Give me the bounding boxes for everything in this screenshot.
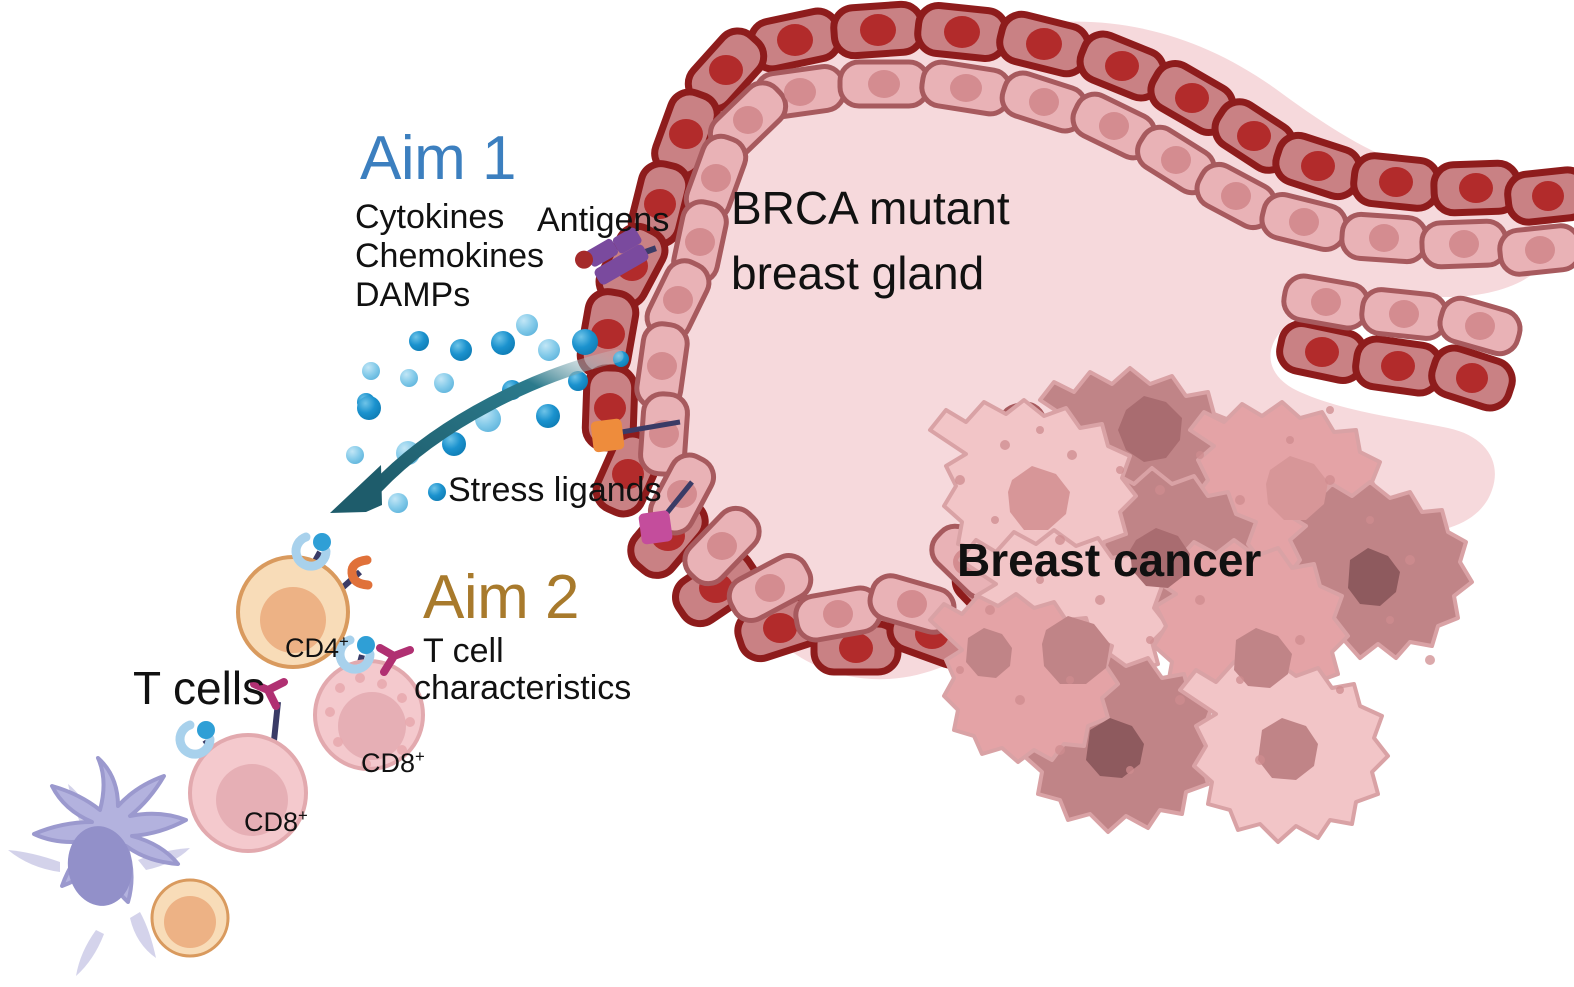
cytokine-dot	[400, 369, 418, 387]
cytokine-dot	[346, 446, 364, 464]
aim1-line-chemokines: Chemokines	[355, 238, 544, 274]
cytokine-dot	[572, 329, 598, 355]
cytokine-dot	[428, 483, 446, 501]
aim1-line-cytokines: Cytokines	[355, 199, 504, 235]
cd4-cell-label: CD4+	[255, 604, 349, 691]
cytokine-dot	[536, 404, 560, 428]
aim1-title: Aim 1	[360, 126, 516, 192]
cytokine-dot	[409, 331, 429, 351]
cytokine-dot	[388, 493, 408, 513]
cytokine-dot	[516, 314, 538, 336]
aim2-line-characteristics: characteristics	[414, 670, 631, 706]
cd8a-label-sup: +	[298, 806, 308, 825]
aim2-title: Aim 2	[423, 565, 579, 631]
cytokine-dot	[491, 331, 515, 355]
figure-canvas: Aim 1 Cytokines Chemokines DAMPs Antigen…	[0, 0, 1574, 987]
gland-label-line2: breast gland	[731, 249, 984, 298]
cytokine-dot	[357, 396, 381, 420]
cd8a-label-text: CD8	[244, 807, 298, 837]
cd4-label-text: CD4	[285, 633, 339, 663]
aim2-line-tcell: T cell	[423, 633, 504, 669]
cd8a-cell-label: CD8+	[214, 778, 308, 865]
gland-label-line1: BRCA mutant	[731, 184, 1010, 233]
cd8b-cell-label: CD8+	[331, 719, 425, 806]
cd4-label-sup: +	[339, 632, 349, 651]
cytokine-dot	[362, 362, 380, 380]
aim1-line-damps: DAMPs	[355, 277, 470, 313]
monocyte-cell	[152, 880, 228, 956]
tumor-label: Breast cancer	[957, 536, 1261, 585]
cd8b-label-sup: +	[415, 747, 425, 766]
cd8a-coreceptor-icon	[180, 721, 215, 754]
cytokine-dot	[434, 373, 454, 393]
cd8b-label-text: CD8	[361, 748, 415, 778]
cytokine-dot	[538, 339, 560, 361]
stress-ligands-label: Stress ligands	[448, 472, 662, 508]
t-cells-label: T cells	[133, 664, 265, 713]
cytokine-dot	[450, 339, 472, 361]
antigens-label: Antigens	[537, 202, 669, 238]
